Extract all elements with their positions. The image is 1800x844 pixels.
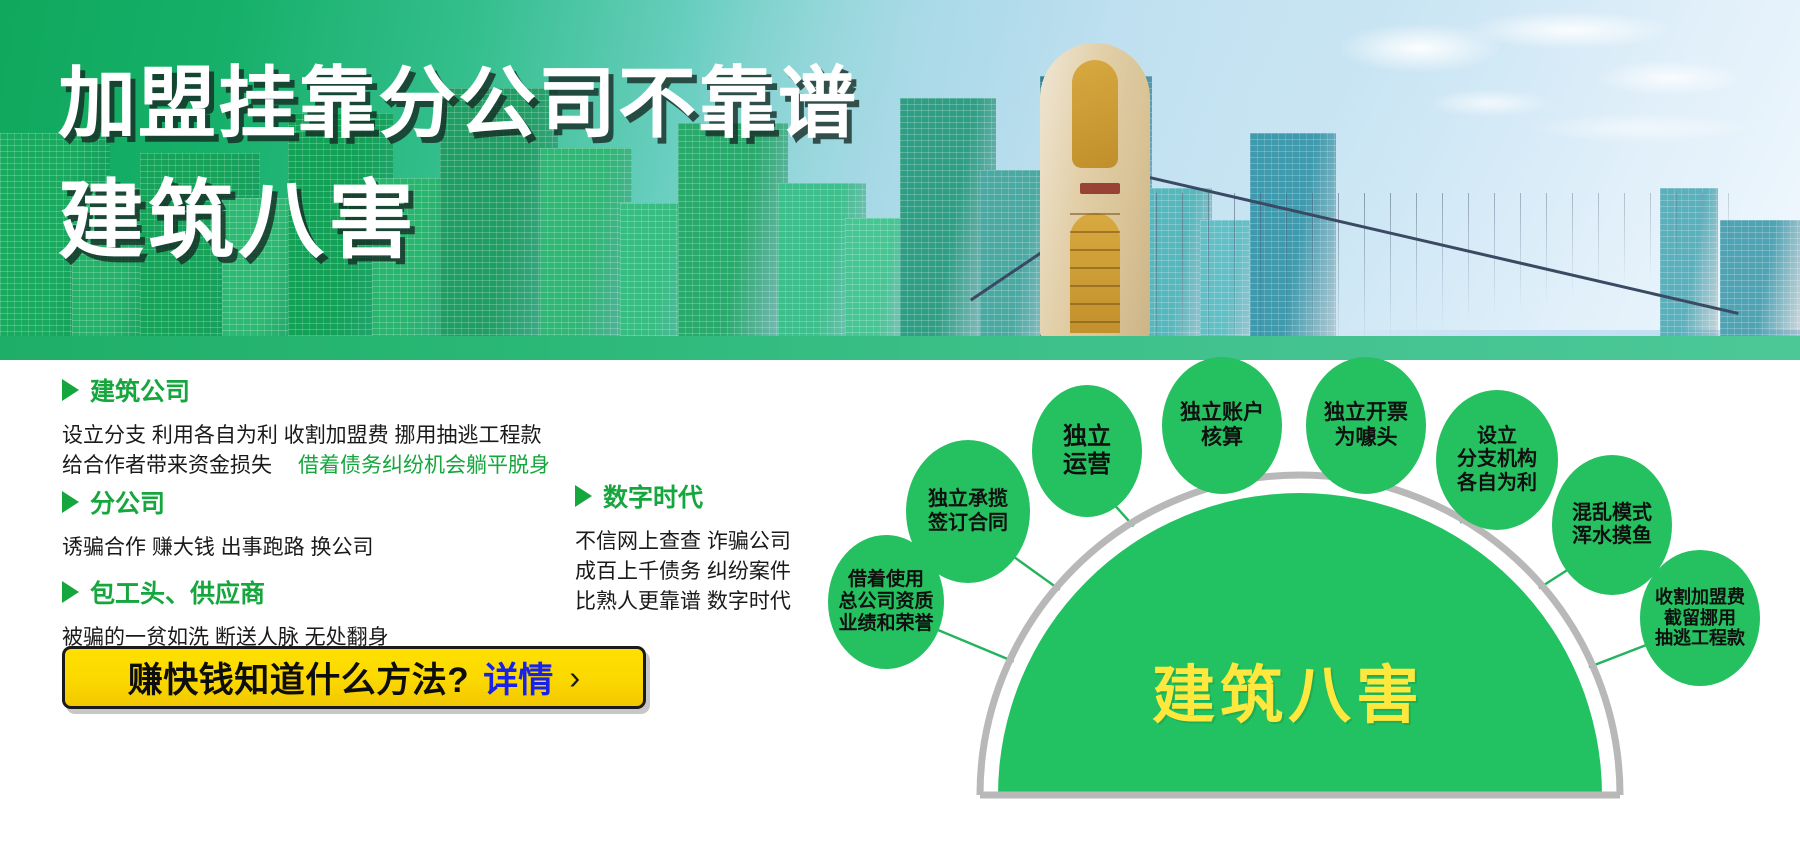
cta-details-link[interactable]: 详情 bbox=[483, 652, 553, 703]
triangle-bullet-icon bbox=[575, 485, 592, 507]
bubble-label: 独立运营 bbox=[1063, 423, 1111, 479]
triangle-bullet-icon bbox=[62, 491, 79, 513]
pylon-upper-opening bbox=[1072, 60, 1118, 168]
bubble-setup-branch[interactable]: 设立分支机构各自为利 bbox=[1436, 390, 1558, 530]
section-body-line: 设立分支 利用各自为利 收割加盟费 挪用抽逃工程款 bbox=[62, 421, 550, 451]
bubble-connector-line bbox=[937, 629, 1014, 661]
section-title: 数字时代 bbox=[603, 478, 703, 514]
pylon-lower-opening bbox=[1070, 213, 1120, 333]
pylon-sign bbox=[1080, 183, 1120, 194]
bubble-label: 混乱模式浑水摸鱼 bbox=[1572, 502, 1652, 548]
bubble-connector-line bbox=[1589, 645, 1647, 667]
hero-title-line1: 加盟挂靠分公司不靠谱 bbox=[58, 64, 858, 142]
section-contractor-supplier: 包工头、供应商被骗的一贫如洗 断送人脉 无处翻身 bbox=[62, 574, 389, 653]
bubble-label: 收割加盟费截留挪用抽逃工程款 bbox=[1655, 587, 1745, 650]
section-body-row: 给合作者带来资金损失借着债务纠纷机会躺平脱身 bbox=[62, 451, 550, 481]
left-content-panel: 建筑公司设立分支 利用各自为利 收割加盟费 挪用抽逃工程款给合作者带来资金损失借… bbox=[0, 360, 900, 844]
section-title: 建筑公司 bbox=[90, 372, 190, 408]
triangle-bullet-icon bbox=[62, 379, 79, 401]
bubble-label: 设立分支机构各自为利 bbox=[1457, 425, 1537, 495]
bridge-pylon-icon bbox=[930, 38, 1350, 338]
section-title: 分公司 bbox=[90, 484, 165, 520]
section-body-line: 给合作者带来资金损失 bbox=[62, 451, 272, 481]
bubble-diagram: 建筑八害 借着使用总公司资质业绩和荣誉独立承揽签订合同独立运营独立账户核算独立开… bbox=[810, 335, 1800, 844]
section-body-line: 借着债务纠纷机会躺平脱身 bbox=[298, 451, 550, 481]
section-body-line: 成百上千债务 纠纷案件 bbox=[575, 557, 791, 587]
section-construction-company: 建筑公司设立分支 利用各自为利 收割加盟费 挪用抽逃工程款给合作者带来资金损失借… bbox=[62, 372, 550, 481]
bubble-label: 独立开票为噱头 bbox=[1324, 401, 1408, 450]
cta-main-label: 赚快钱知道什么方法? bbox=[128, 652, 469, 703]
section-branch-company: 分公司诱骗合作 赚大钱 出事跑路 换公司 bbox=[62, 484, 374, 563]
section-body-line: 比熟人更靠谱 数字时代 bbox=[575, 587, 791, 617]
poster-root: 加盟挂靠分公司不靠谱 建筑八害 建筑公司设立分支 利用各自为利 收割加盟费 挪用… bbox=[0, 0, 1800, 844]
section-title: 包工头、供应商 bbox=[90, 574, 265, 610]
hero-title-line2: 建筑八害 bbox=[58, 178, 418, 264]
bubble-harvest-fees[interactable]: 收割加盟费截留挪用抽逃工程款 bbox=[1640, 550, 1760, 686]
bubble-independent-operation[interactable]: 独立运营 bbox=[1032, 385, 1142, 517]
bubble-label: 独立承揽签订合同 bbox=[928, 488, 1008, 534]
details-cta-button[interactable]: 赚快钱知道什么方法?详情› bbox=[62, 646, 646, 709]
dome-center-label: 建筑八害 bbox=[1152, 645, 1424, 736]
building-block bbox=[678, 123, 788, 338]
section-heading: 分公司 bbox=[62, 484, 374, 520]
section-heading: 建筑公司 bbox=[62, 372, 550, 408]
bubble-independent-account[interactable]: 独立账户核算 bbox=[1162, 357, 1282, 494]
building-block bbox=[540, 148, 632, 338]
bubble-connector-line bbox=[1014, 557, 1060, 590]
section-heading: 包工头、供应商 bbox=[62, 574, 389, 610]
bubble-independent-contract[interactable]: 独立承揽签订合同 bbox=[906, 440, 1030, 583]
section-body-line: 诱骗合作 赚大钱 出事跑路 换公司 bbox=[62, 533, 374, 563]
hero-banner: 加盟挂靠分公司不靠谱 建筑八害 bbox=[0, 0, 1800, 360]
bubble-label: 独立账户核算 bbox=[1180, 401, 1264, 450]
section-body-line: 不信网上查查 诈骗公司 bbox=[575, 527, 791, 557]
section-heading: 数字时代 bbox=[575, 478, 791, 514]
chevron-right-icon: › bbox=[569, 661, 580, 694]
section-digital-era: 数字时代不信网上查查 诈骗公司成百上千债务 纠纷案件比熟人更靠谱 数字时代 bbox=[575, 478, 791, 616]
bubble-independent-invoice[interactable]: 独立开票为噱头 bbox=[1306, 357, 1426, 494]
bubble-label: 借着使用总公司资质业绩和荣誉 bbox=[838, 569, 933, 635]
triangle-bullet-icon bbox=[62, 581, 79, 603]
